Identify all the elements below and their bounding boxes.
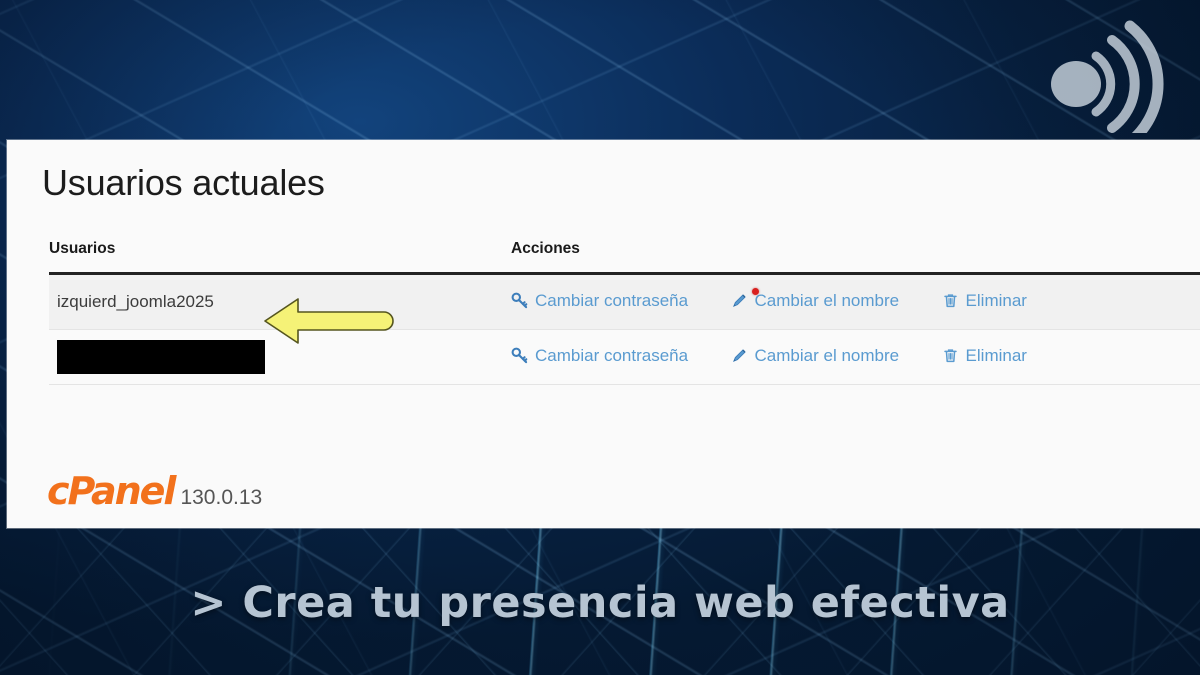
delete-user-label: Eliminar bbox=[966, 292, 1027, 309]
cpanel-logo: cPanel bbox=[47, 472, 174, 510]
tagline-text: > Crea tu presencia web efectiva bbox=[0, 578, 1200, 628]
trash-icon bbox=[942, 291, 959, 310]
username-label: izquierd_joomla2025 bbox=[49, 292, 214, 311]
username-label-redacted bbox=[49, 346, 265, 365]
delete-user-label: Eliminar bbox=[966, 347, 1027, 364]
change-password-label: Cambiar contraseña bbox=[535, 292, 688, 309]
user-cell bbox=[49, 330, 511, 385]
delete-user-link[interactable]: Eliminar bbox=[942, 346, 1027, 365]
cpanel-content-panel: Usuarios actuales Usuarios Acciones izqu… bbox=[7, 140, 1200, 528]
broadcast-wifi-icon bbox=[1040, 18, 1170, 133]
current-users-table: Usuarios Acciones izquierd_joomla2025 bbox=[49, 240, 1200, 385]
page-title: Usuarios actuales bbox=[42, 162, 325, 204]
column-header-users: Usuarios bbox=[49, 240, 511, 274]
table-body: izquierd_joomla2025 bbox=[49, 274, 1200, 385]
redaction-bar bbox=[57, 340, 265, 374]
table-row: izquierd_joomla2025 bbox=[49, 274, 1200, 330]
screenshot-stage: Usuarios actuales Usuarios Acciones izqu… bbox=[0, 0, 1200, 675]
rename-user-link[interactable]: Cambiar el nombre bbox=[731, 346, 900, 365]
cpanel-version-label: 130.0.13 bbox=[180, 487, 262, 508]
table-row: Cambiar contraseña Cambiar el nombre bbox=[49, 330, 1200, 385]
cursor-dot-marker bbox=[752, 288, 759, 295]
pencil-icon bbox=[731, 346, 748, 365]
pencil-icon bbox=[731, 291, 748, 310]
trash-icon bbox=[942, 346, 959, 365]
key-icon bbox=[511, 291, 528, 310]
change-password-label: Cambiar contraseña bbox=[535, 347, 688, 364]
rename-user-label: Cambiar el nombre bbox=[755, 347, 900, 364]
actions-cell: Cambiar contraseña Cambiar el nombre bbox=[511, 274, 1200, 330]
key-icon bbox=[511, 346, 528, 365]
delete-user-link[interactable]: Eliminar bbox=[942, 291, 1027, 310]
column-header-actions: Acciones bbox=[511, 240, 1200, 274]
rename-user-label: Cambiar el nombre bbox=[755, 292, 900, 309]
change-password-link[interactable]: Cambiar contraseña bbox=[511, 291, 688, 310]
change-password-link[interactable]: Cambiar contraseña bbox=[511, 346, 688, 365]
table-header: Usuarios Acciones bbox=[49, 240, 1200, 274]
actions-cell: Cambiar contraseña Cambiar el nombre bbox=[511, 330, 1200, 385]
user-cell: izquierd_joomla2025 bbox=[49, 274, 511, 330]
cpanel-footer: cPanel 130.0.13 bbox=[47, 472, 262, 510]
